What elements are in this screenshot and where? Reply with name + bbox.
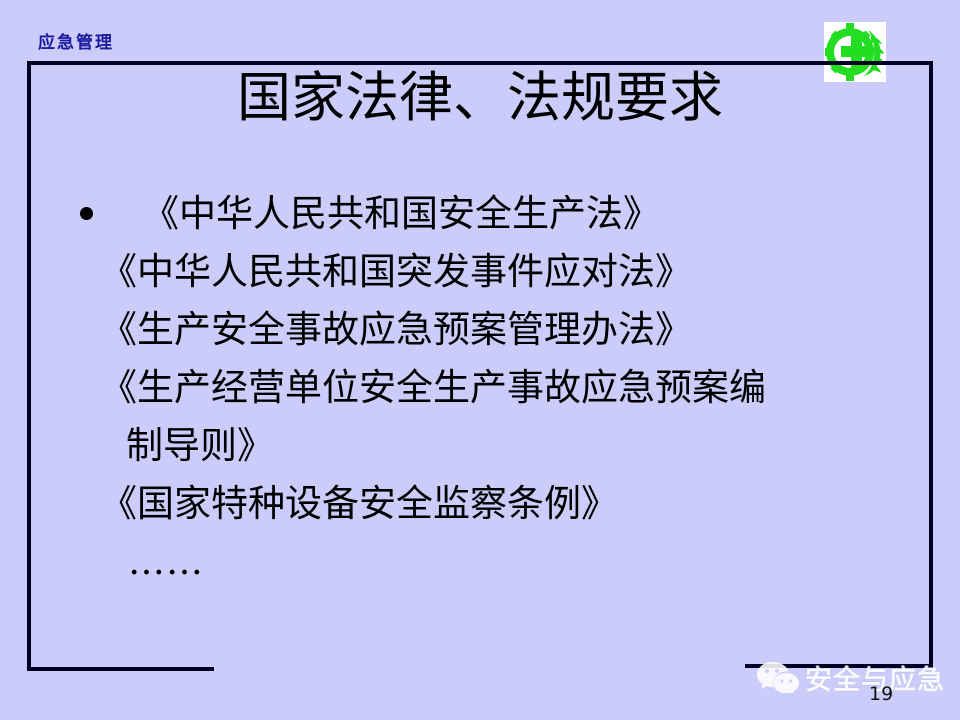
- list-item-label: 《生产安全事故应急预案管理办法》: [100, 308, 692, 351]
- list-item: 《生产经营单位安全生产事故应急预案编: [66, 359, 896, 417]
- list-item-label: 《国家特种设备安全监察条例》: [100, 482, 618, 525]
- list-item-label: 《中华人民共和国突发事件应对法》: [100, 250, 692, 293]
- frame-border-left: [27, 61, 31, 671]
- list-item: 《中华人民共和国突发事件应对法》: [66, 243, 896, 301]
- list-item: 《生产安全事故应急预案管理办法》: [66, 301, 896, 359]
- page-number: 19: [869, 683, 893, 705]
- frame-border-right: [929, 61, 933, 668]
- content-list: 《中华人民共和国安全生产法》 《中华人民共和国突发事件应对法》 《生产安全事故应…: [66, 185, 896, 591]
- list-item: 《中华人民共和国安全生产法》: [66, 185, 896, 243]
- slide-header-label: 应急管理: [38, 28, 114, 53]
- bullet-icon: [80, 207, 93, 220]
- list-item-label: 《中华人民共和国安全生产法》: [142, 192, 660, 235]
- list-item-label: ……: [128, 540, 204, 583]
- watermark: 安全与应急: [757, 655, 945, 699]
- page-title: 国家法律、法规要求: [27, 62, 933, 134]
- list-item-continuation: 制导则》: [66, 417, 896, 475]
- wechat-icon: [757, 661, 799, 693]
- list-item-label: 制导则》: [126, 424, 274, 467]
- list-item: 《国家特种设备安全监察条例》: [66, 475, 896, 533]
- slide-canvas: 应急管理: [0, 0, 960, 720]
- list-item-label: 《生产经营单位安全生产事故应急预案编: [100, 366, 766, 409]
- list-item-ellipsis: ……: [66, 533, 896, 591]
- frame-border-bottom-left: [27, 667, 214, 671]
